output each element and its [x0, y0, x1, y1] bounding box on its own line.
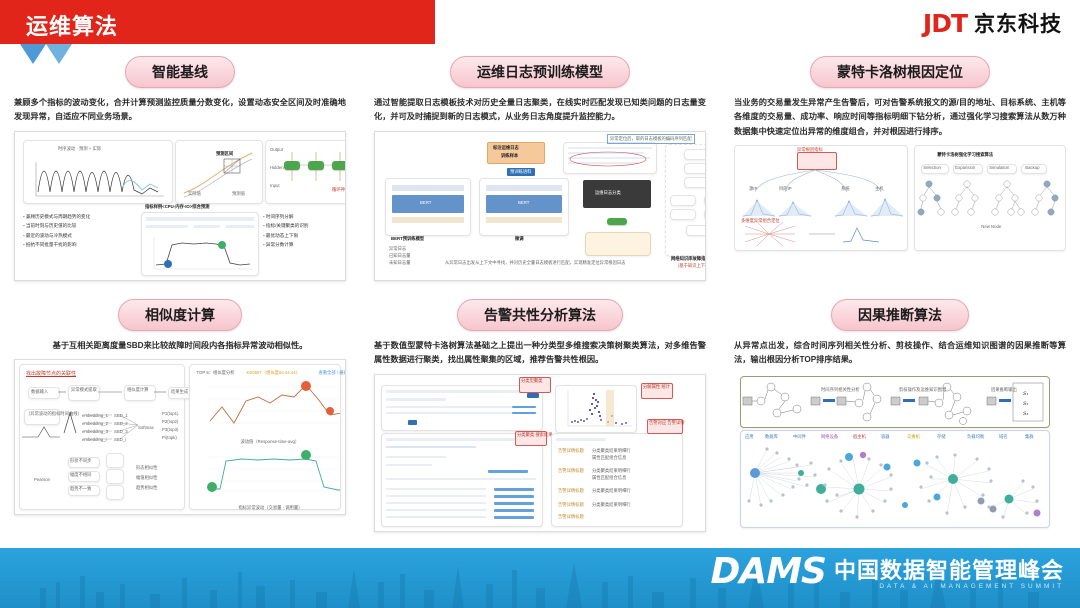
- similarity-charts-card: TOP 5：相似度分析 KS0507（相似度84.44.44） 查看全部 / 展…: [189, 364, 341, 510]
- causal-graph-svg: S₁S₂S₃: [741, 377, 1049, 427]
- oplog-callout: 异常定位后，取的日志模板的编码序列匹配: [607, 134, 695, 144]
- oplog-kg-title: 网络知识库故障指派图: [671, 256, 706, 262]
- similarity-flow-title: 找出故障节点的关联性: [26, 370, 76, 377]
- causal-steps-card: S₁S₂S₃ 时间序列相关性分析 剪枝操作及运维知识图谱 因果推断输出: [740, 376, 1050, 428]
- baseline-right-bullets: 时间序列分解 指标/关键聚类的识别 最优动态上下限 异常分数计算: [263, 212, 346, 250]
- oplog-bert-left-card: BERT: [385, 178, 471, 236]
- mcts-search-card: 蒙特卡洛树强化学习搜索算法 Selection Expansion Simula…: [914, 145, 1066, 251]
- alarm-scatter-card: [555, 385, 637, 433]
- svg-text:S₃: S₃: [1023, 411, 1028, 417]
- mcts-drilldown-card: 异常根因指标 源IP 目的IP 系统 主机: [734, 145, 908, 251]
- baseline-left-bullets: 兼顾历史模式与周期趋势的变化 当前时刻与历史值的比较 最近的波动与冷热模式 抵抗…: [23, 212, 143, 250]
- dams-en-subtitle: DATA & AI MANAGEMENT SUMMIT: [834, 583, 1064, 590]
- dams-logo: DAMS 中国数据智能管理峰会 DATA & AI MANAGEMENT SUM…: [710, 554, 1064, 590]
- oplog-log-lines-card: [563, 142, 657, 174]
- section-desc-causal-inference: 从异常点出发，综合时间序列相关性分析、剪枝操作、结合运维知识图谱的因果推断等算法…: [734, 339, 1066, 368]
- svg-text:S₂: S₂: [1023, 401, 1028, 407]
- oplog-token-card: [585, 232, 651, 256]
- oplog-footnote: 从异常日志出发从上下文中寻找，并对历史全量日志模板进行匹配，实现精准定位异常根因…: [445, 260, 625, 266]
- section-desc-intelligent-baseline: 兼顾多个指标的波动变化，合并计算预测监控质量分数变化，设置动态安全区间及时准确地…: [14, 96, 346, 125]
- similarity-chart-filter[interactable]: TOP 5：相似度分析: [196, 370, 234, 376]
- mcts-combination-burst: [739, 220, 911, 248]
- brand-latin-text: JDT: [923, 9, 967, 38]
- mcts-spike-charts: [739, 194, 911, 220]
- oplog-bert-right-label: 微调: [515, 236, 524, 242]
- mcts-tree-svg: [915, 176, 1065, 242]
- similarity-chart-bottom: [190, 447, 340, 503]
- baseline-rnn-note: 循环神经网络: [332, 187, 346, 193]
- alarm-detail-list-card: 告警详情标题 分类聚类结果明细行 属性匹配组合信息 告警详情标题 分类聚类结果明…: [551, 433, 683, 527]
- panel-causal-inference: S₁S₂S₃ 时间序列相关性分析 剪枝操作及运维知识图谱 因果推断输出 应用 数…: [734, 374, 1066, 530]
- similarity-chart-tag[interactable]: KS0507（相似度84.44.44）: [246, 370, 300, 376]
- page-title: 运维算法: [26, 9, 118, 41]
- alarm-scatter-svg: [556, 386, 636, 432]
- similarity-legend-bottom: 指标异常波动（交易量 - 调用量）: [238, 505, 302, 511]
- section-title-alarm-commonality: 告警共性分析算法: [457, 299, 623, 331]
- section-causal-inference: 因果推断算法 从异常点出发，综合时间序列相关性分析、剪枝操作、结合运维知识图谱的…: [720, 295, 1080, 538]
- footer-banner: DAMS 中国数据智能管理峰会 DATA & AI MANAGEMENT SUM…: [0, 548, 1080, 608]
- oplog-kg-card: [665, 144, 706, 256]
- panel-alarm-commonality: 分类型聚类: [374, 374, 706, 532]
- section-desc-similarity-computation: 基于互相关距离度量SBD来比较故障时间段内各指标异常波动相似性。: [14, 339, 346, 353]
- similarity-chart-link[interactable]: 查看全部 / 展开节点分布: [318, 370, 346, 376]
- dams-cn-title: 中国数据智能管理峰会: [834, 558, 1064, 583]
- panel-mcts-root-cause: 异常根因指标 源IP 目的IP 系统 主机: [734, 145, 1066, 293]
- section-oplog-pretrain-model: 运维日志预训练模型 通过智能提取日志模板技术对历史全量日志聚类，在线实时匹配发现…: [360, 52, 720, 295]
- similarity-legend-top: 波动值（Response-time-avg）: [240, 439, 299, 445]
- oplog-bert-left-label: BERT预训练模型: [391, 236, 424, 242]
- section-desc-alarm-commonality: 基于数值型蒙特卡洛树算法基础之上提出一种分类型多维搜索决策树聚类算法，对多维告警…: [374, 339, 706, 368]
- panel-similarity-computation: 找出故障节点的关联性 数据输入 异常模式提取 相似度计算 结果生成 （异常波动的…: [14, 359, 346, 515]
- section-title-mcts-root-cause: 蒙特卡洛树根因定位: [810, 56, 990, 88]
- causal-network-card: 应用 数据库 中间件 网络设备 宿主机 容器 交换机 存储 负载均衡 域名 集群: [740, 430, 1050, 528]
- brand-cn-text: 京东科技: [974, 8, 1062, 38]
- mcts-search-title: 蒙特卡洛树强化学习搜索算法: [937, 152, 993, 158]
- section-desc-oplog-pretrain-model: 通过智能提取日志模板技术对历史全量日志聚类，在线实时匹配发现已知类问题的日志量变…: [374, 96, 706, 125]
- brand-logo: JDT 京东科技: [923, 8, 1062, 38]
- baseline-waveform-card: 时序波动 · 预测 + 实际: [23, 140, 173, 204]
- baseline-dashboard-chart: [142, 231, 258, 275]
- alarm-query-button[interactable]: [408, 420, 417, 425]
- section-mcts-root-cause: 蒙特卡洛树根因定位 当业务的交易量发生异常产生告警后，可对告警系统报文的源/目的…: [720, 52, 1080, 295]
- oplog-bert-right-card: BERT: [479, 178, 569, 236]
- dams-wordmark: DAMS: [710, 554, 826, 590]
- panel-intelligent-baseline: 时序波动 · 预测 + 实际 预测区间 实际值 预测值: [14, 131, 346, 281]
- section-similarity-computation: 相似度计算 基于互相关距离度量SBD来比较故障时间段内各指标异常波动相似性。 找…: [0, 295, 360, 538]
- similarity-chart-top: [190, 379, 340, 437]
- section-alarm-commonality: 告警共性分析算法 基于数值型蒙特卡洛树算法基础之上提出一种分类型多维搜索决策树聚…: [360, 295, 720, 538]
- svg-text:S₁: S₁: [1023, 391, 1028, 397]
- baseline-trend-card: 预测区间 实际值 预测值: [175, 140, 263, 204]
- similarity-flow-card: 找出故障节点的关联性 数据输入 异常模式提取 相似度计算 结果生成 （异常波动的…: [19, 364, 185, 510]
- alarm-callout-badge-1: [527, 393, 539, 398]
- panel-oplog-pretrain-model: 标注运维日志 训练样本 预训练语料 BERT BERT预训练模型 BERT 微调…: [374, 131, 706, 281]
- sections-grid: 智能基线 兼顾多个指标的波动变化，合并计算预测监控质量分数变化，设置动态安全区间…: [0, 52, 1080, 538]
- oplog-kg-subtitle: （基于知识上下文的日志检索）: [675, 263, 706, 269]
- section-title-similarity-computation: 相似度计算: [118, 299, 242, 331]
- causal-network-svg: [741, 443, 1049, 527]
- baseline-waveform-svg: [24, 154, 172, 202]
- section-title-oplog-pretrain-model: 运维日志预训练模型: [450, 56, 630, 88]
- section-title-causal-inference: 因果推断算法: [831, 299, 969, 331]
- section-title-intelligent-baseline: 智能基线: [125, 56, 235, 88]
- section-desc-mcts-root-cause: 当业务的交易量发生异常产生告警后，可对告警系统报文的源/目的地址、目标系统、主机…: [734, 96, 1066, 139]
- baseline-rnn-card: 循环神经网络 Output Hidden Input: [265, 140, 346, 204]
- baseline-chart-caption: 时序波动 · 预测 + 实际: [58, 146, 101, 152]
- alarm-result-table-card: [381, 433, 543, 527]
- section-intelligent-baseline: 智能基线 兼顾多个指标的波动变化，合并计算预测监控质量分数变化，设置动态安全区间…: [0, 52, 360, 295]
- baseline-panel-caption: 指标样例<CPU-内存-IO>综合预测: [145, 204, 209, 210]
- baseline-dashboard-card: [141, 212, 259, 276]
